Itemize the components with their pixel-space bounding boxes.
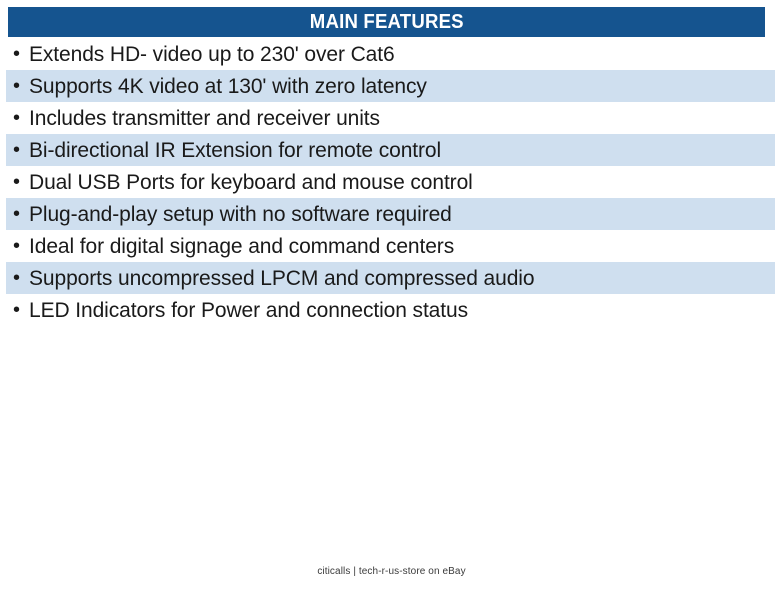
main-features-list: • Extends HD- video up to 230' over Cat6… [6, 38, 775, 326]
bullet-icon: • [13, 236, 29, 256]
feature-text: Includes transmitter and receiver units [29, 108, 380, 129]
feature-text: LED Indicators for Power and connection … [29, 300, 468, 321]
page-title: MAIN FEATURES [310, 12, 464, 32]
feature-sheet: MAIN FEATURES • Extends HD- video up to … [0, 0, 783, 591]
list-item: • LED Indicators for Power and connectio… [6, 294, 775, 326]
bullet-icon: • [13, 76, 29, 96]
feature-text: Supports 4K video at 130' with zero late… [29, 76, 427, 97]
list-item: • Ideal for digital signage and command … [6, 230, 775, 262]
list-item: • Extends HD- video up to 230' over Cat6 [6, 38, 775, 70]
bullet-icon: • [13, 268, 29, 288]
list-item: • Plug-and-play setup with no software r… [6, 198, 775, 230]
bullet-icon: • [13, 44, 29, 64]
footer-credit: citicalls | tech-r-us-store on eBay [0, 566, 783, 577]
list-item: • Bi-directional IR Extension for remote… [6, 134, 775, 166]
feature-text: Plug-and-play setup with no software req… [29, 204, 452, 225]
feature-text: Ideal for digital signage and command ce… [29, 236, 454, 257]
list-item: • Supports uncompressed LPCM and compres… [6, 262, 775, 294]
bullet-icon: • [13, 300, 29, 320]
feature-text: Supports uncompressed LPCM and compresse… [29, 268, 534, 289]
list-item: • Includes transmitter and receiver unit… [6, 102, 775, 134]
bullet-icon: • [13, 204, 29, 224]
bullet-icon: • [13, 140, 29, 160]
feature-text: Bi-directional IR Extension for remote c… [29, 140, 441, 161]
main-features-header-bar: MAIN FEATURES [8, 7, 765, 37]
feature-text: Extends HD- video up to 230' over Cat6 [29, 44, 395, 65]
bullet-icon: • [13, 172, 29, 192]
list-item: • Dual USB Ports for keyboard and mouse … [6, 166, 775, 198]
list-item: • Supports 4K video at 130' with zero la… [6, 70, 775, 102]
feature-text: Dual USB Ports for keyboard and mouse co… [29, 172, 473, 193]
bullet-icon: • [13, 108, 29, 128]
